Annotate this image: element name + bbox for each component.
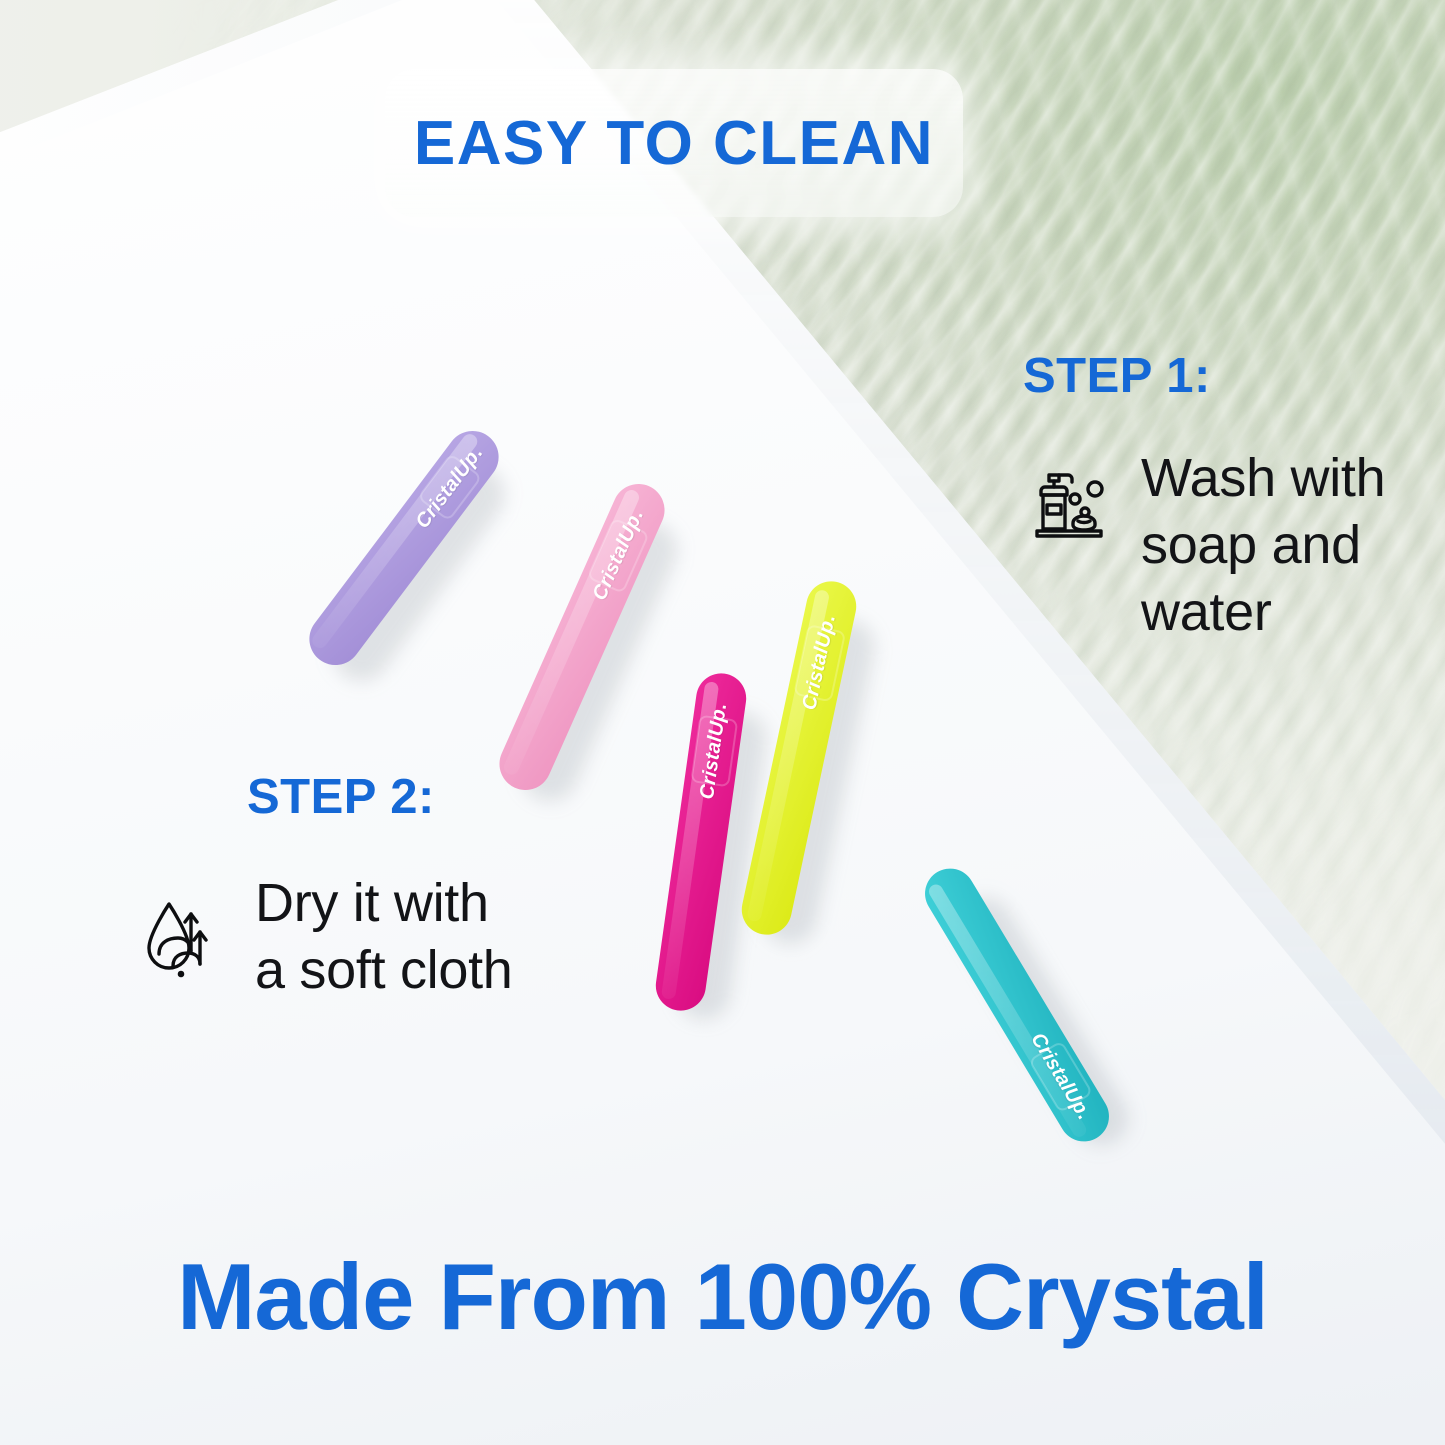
step-1-line-2: soap and [1141,512,1385,579]
product-infographic: CristalUp. CristalUp. CristalUp. Cristal… [0,0,1445,1445]
headline-prefix: Made From [177,1244,695,1349]
step-2-block: STEP 2: Dry it w [247,773,513,1004]
step-2-text: Dry it with a soft cloth [255,870,513,1004]
step-2-label: STEP 2: [247,773,513,822]
soap-dispenser-icon [1023,461,1119,562]
file-brand-tag: CristalUp. [793,624,846,703]
bottom-headline: Made From 100% Crystal [0,1243,1445,1351]
file-brand-tag: CristalUp. [690,715,738,788]
step-2-line-1: Dry it with [255,870,513,937]
brand-label: CristalUp. [696,702,732,801]
step-1-text: Wash with soap and water [1141,445,1385,646]
step-1-label: STEP 1: [1023,352,1385,401]
easy-to-clean-banner: EASY TO CLEAN [385,69,963,217]
step-1-block: STEP 1: [1023,352,1385,646]
step-2-line-2: a soft cloth [255,937,513,1004]
step-1-line-1: Wash with [1141,445,1385,512]
banner-title: EASY TO CLEAN [414,108,934,179]
brand-label: CristalUp. [798,613,841,712]
water-drop-dry-icon [137,892,233,993]
headline-emphasis: 100% Crystal [695,1244,1268,1349]
step-1-line-3: water [1141,579,1385,646]
